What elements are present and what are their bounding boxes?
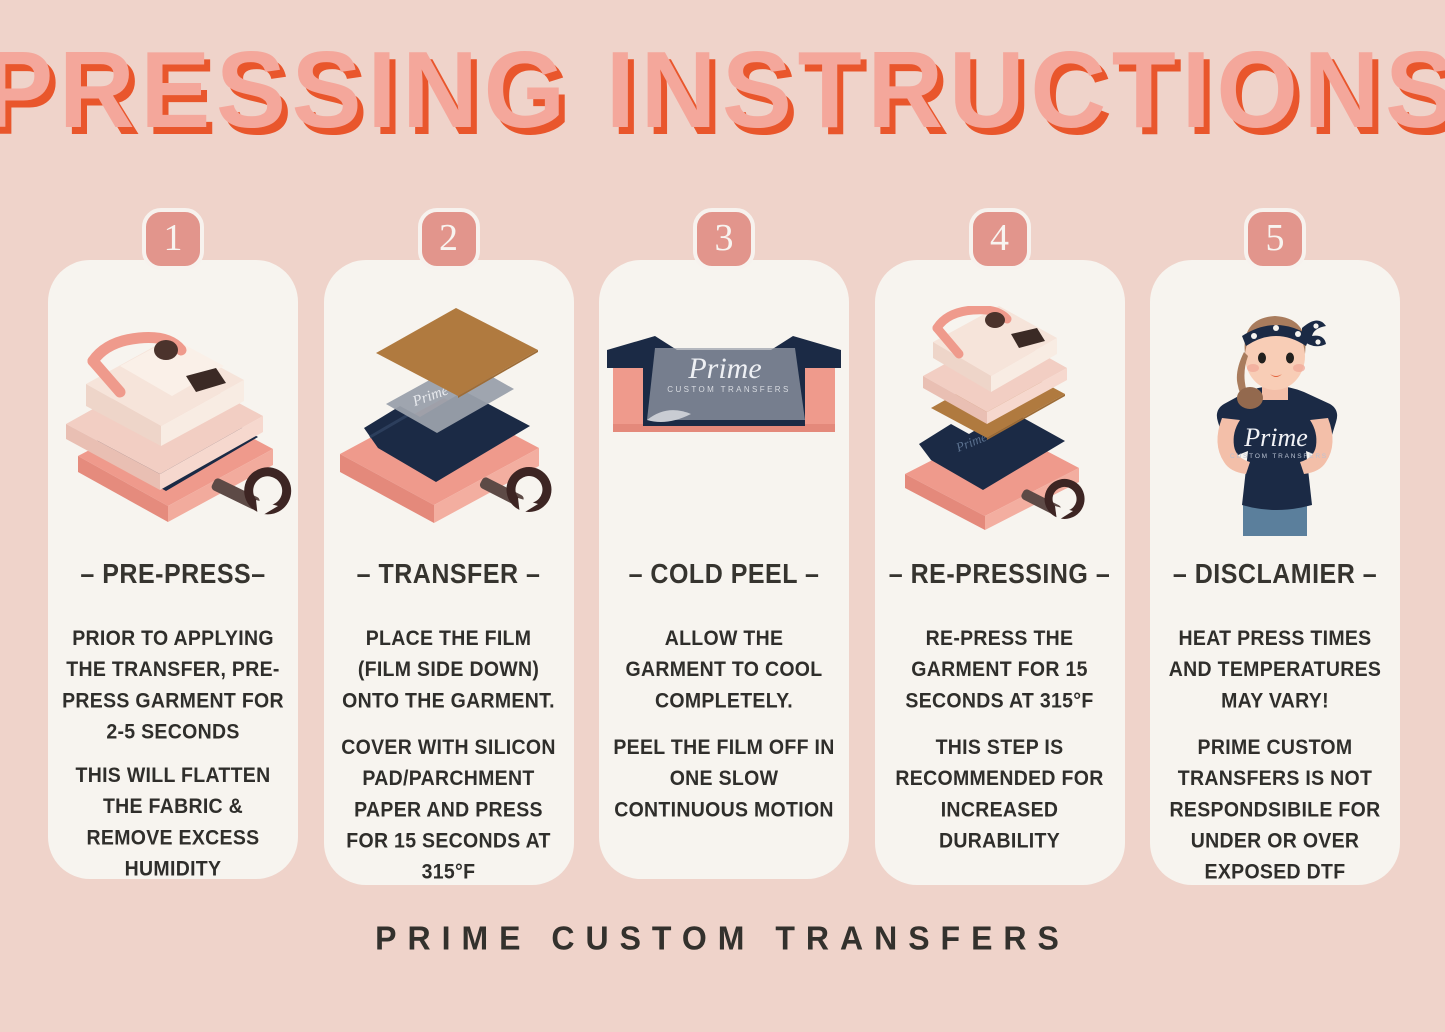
- poster-canvas: PRESSING INSTRUCTIONS PRESSING INSTRUCTI…: [0, 0, 1445, 1032]
- step-paragraph-2-2: COVER WITH SILICON PAD/PARCHMENT PAPER A…: [332, 732, 566, 887]
- step-text-1: – PRE-PRESS– PRIOR TO APPLYING THE TRANS…: [56, 560, 290, 873]
- step-paragraph-5-2: PRIME CUSTOM TRANSFERS IS NOT RESPONDSIB…: [1158, 732, 1392, 887]
- title-stack: PRESSING INSTRUCTIONS PRESSING INSTRUCTI…: [74, 36, 1370, 128]
- illustration-woman-wearing-tee: Prime CUSTOM TRANSFERS: [1150, 306, 1400, 536]
- step-badge-3: 3: [693, 208, 755, 270]
- illustration-heat-press-closed: [48, 306, 298, 536]
- step-card-2[interactable]: 2 Prime: [324, 260, 574, 885]
- step-badge-5: 5: [1244, 208, 1306, 270]
- step-paragraph-4-1: RE-PRESS THE GARMENT FOR 15 SECONDS AT 3…: [883, 623, 1117, 716]
- step-card-4[interactable]: 4 Prime: [875, 260, 1125, 885]
- film-logo-subtitle: CUSTOM TRANSFERS: [667, 385, 790, 394]
- step-heading-4: – RE-PRESSING –: [883, 558, 1117, 590]
- step-heading-1: – PRE-PRESS–: [56, 558, 290, 590]
- tee-logo-subtitle: CUSTOM TRANSFERS: [1230, 453, 1328, 460]
- illustration-shirt-peeling-film: Prime CUSTOM TRANSFERS: [599, 306, 849, 536]
- step-heading-5: – DISCLAMIER –: [1158, 558, 1392, 590]
- step-heading-2: – TRANSFER –: [332, 558, 566, 590]
- step-paragraph-1-2: THIS WILL FLATTEN THE FABRIC & REMOVE EX…: [56, 760, 290, 884]
- step-paragraph-3-2: PEEL THE FILM OFF IN ONE SLOW CONTINUOUS…: [607, 732, 841, 825]
- step-badge-4: 4: [969, 208, 1031, 270]
- step-paragraph-1-1: PRIOR TO APPLYING THE TRANSFER, PRE-PRES…: [56, 623, 290, 747]
- step-paragraph-3-1: ALLOW THE GARMENT TO COOL COMPLETELY.: [607, 623, 841, 716]
- steps-container: 1: [48, 260, 1400, 885]
- step-card-3[interactable]: 3 Prime CUSTOM TRANSFERS: [599, 260, 849, 879]
- step-badge-2: 2: [418, 208, 480, 270]
- footer-brand: PRIME CUSTOM TRANSFERS: [0, 919, 1445, 958]
- page-title: PRESSING INSTRUCTIONS PRESSING INSTRUCTI…: [0, 36, 1445, 146]
- tee-logo-script: Prime: [1243, 423, 1308, 452]
- step-text-4: – RE-PRESSING – RE-PRESS THE GARMENT FOR…: [883, 560, 1117, 845]
- step-badge-1: 1: [142, 208, 204, 270]
- step-text-2: – TRANSFER – PLACE THE FILM (FILM SIDE D…: [332, 560, 566, 873]
- illustration-parchment-over-film: Prime: [324, 306, 574, 536]
- step-card-1[interactable]: 1: [48, 260, 298, 879]
- step-text-5: – DISCLAMIER – HEAT PRESS TIMES AND TEMP…: [1158, 560, 1392, 873]
- step-heading-3: – COLD PEEL –: [607, 558, 841, 590]
- film-logo-script: Prime: [687, 352, 761, 385]
- illustration-exploded-press-stack: Prime: [875, 306, 1125, 536]
- step-paragraph-4-2: THIS STEP IS RECOMMENDED FOR INCREASED D…: [883, 732, 1117, 856]
- title-front-layer: PRESSING INSTRUCTIONS: [0, 36, 1445, 145]
- step-paragraph-2-1: PLACE THE FILM (FILM SIDE DOWN) ONTO THE…: [332, 623, 566, 716]
- step-text-3: – COLD PEEL – ALLOW THE GARMENT TO COOL …: [607, 560, 841, 817]
- step-card-5[interactable]: 5: [1150, 260, 1400, 885]
- step-paragraph-5-1: HEAT PRESS TIMES AND TEMPERATURES MAY VA…: [1158, 623, 1392, 716]
